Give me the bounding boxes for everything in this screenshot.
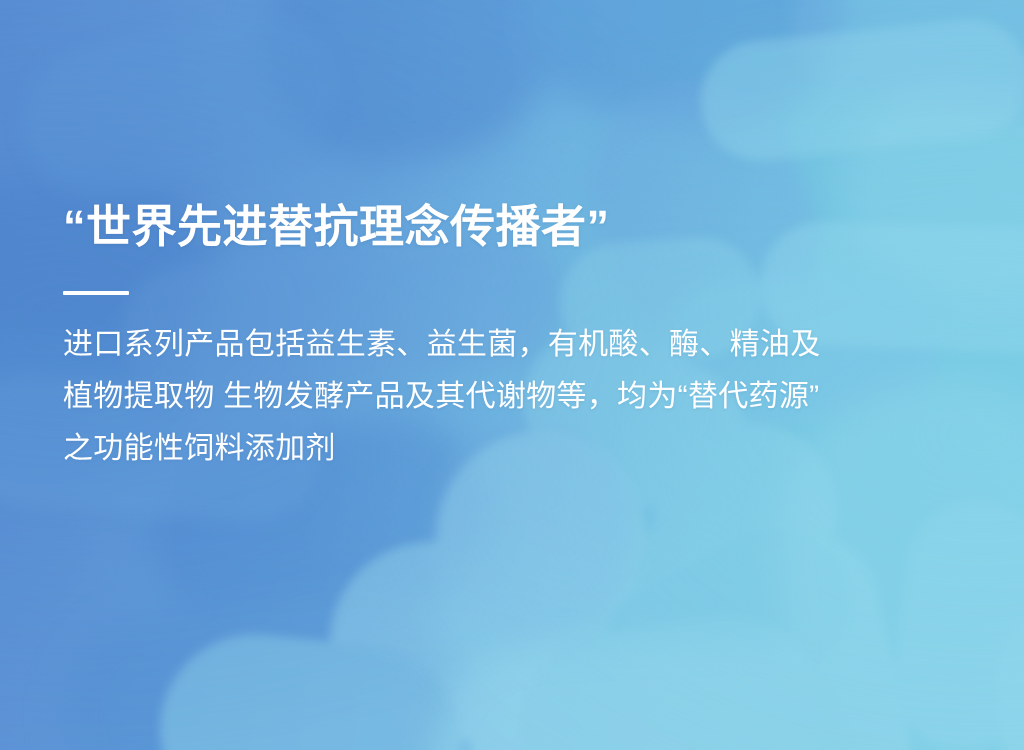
- headline-title: “世界先进替抗理念传播者”: [63, 196, 993, 258]
- promotional-banner: “世界先进替抗理念传播者” 进口系列产品包括益生素、益生菌，有机酸、酶、精油及 …: [0, 0, 1024, 750]
- paragraph-line-3: 之功能性饲料添加剂: [63, 423, 993, 475]
- text-content-block: “世界先进替抗理念传播者” 进口系列产品包括益生素、益生菌，有机酸、酶、精油及 …: [63, 196, 993, 475]
- description-paragraph: 进口系列产品包括益生素、益生菌，有机酸、酶、精油及 植物提取物 生物发酵产品及其…: [63, 295, 993, 475]
- paragraph-line-2: 植物提取物 生物发酵产品及其代谢物等，均为“替代药源”: [63, 371, 993, 423]
- paragraph-line-1: 进口系列产品包括益生素、益生菌，有机酸、酶、精油及: [63, 319, 993, 371]
